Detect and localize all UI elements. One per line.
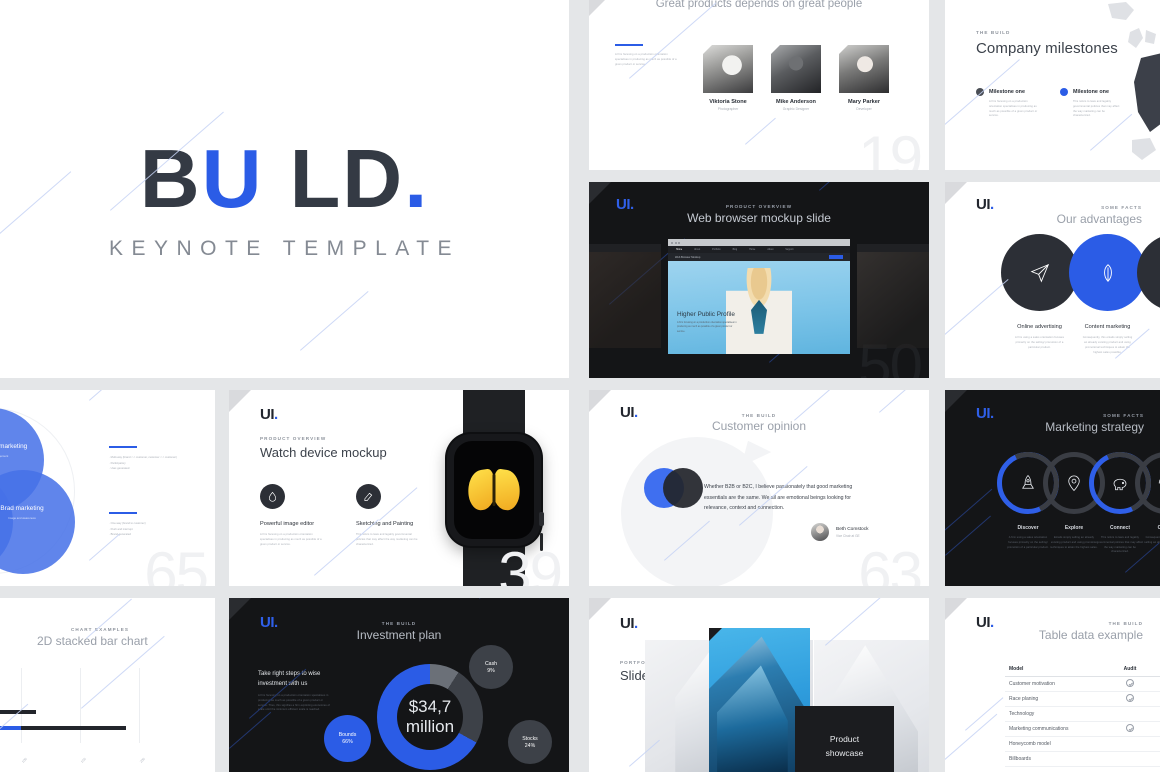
cover-logo: BUILD. KEYNOTE TEMPLATE bbox=[0, 140, 569, 261]
piggy-bank-icon bbox=[1111, 474, 1129, 492]
slide-eyebrow: THE BUILD bbox=[976, 30, 1010, 35]
advantage-circle bbox=[1069, 234, 1146, 311]
logo-letter-d: D bbox=[342, 132, 404, 225]
corner-fold-icon bbox=[945, 390, 967, 412]
ui-logo: UI. bbox=[620, 615, 638, 632]
table-row[interactable]: Race planing bbox=[1005, 692, 1160, 707]
slide-eyebrow: SOME FACTS bbox=[1101, 205, 1142, 210]
hero-copy: Higher Public Profile A firm focusing on… bbox=[677, 311, 737, 334]
team-title: Great products depends on great people bbox=[644, 0, 874, 13]
legend-bubble-stocks[interactable]: Stocks 24% bbox=[508, 720, 552, 764]
cell-model: Technology bbox=[1005, 711, 1105, 717]
x-tick-label: 150 bbox=[80, 757, 87, 764]
bubble-value: 24% bbox=[525, 743, 535, 749]
browser-hero: Higher Public Profile A firm focusing on… bbox=[668, 261, 850, 354]
milestone-label: Milestone one bbox=[989, 89, 1025, 95]
pin-icon bbox=[1065, 474, 1083, 492]
slide-title: 2D stacked bar chart bbox=[37, 634, 148, 648]
bubble-label: Stocks bbox=[522, 736, 538, 742]
corner-fold-icon bbox=[945, 598, 967, 620]
cell-model: Customer motivation bbox=[1005, 681, 1105, 687]
nav-item[interactable]: Blog bbox=[733, 249, 738, 251]
table-header-row: Model Audit Planing bbox=[1005, 662, 1160, 677]
accent-rule bbox=[109, 512, 137, 514]
team-people-list: Viktoria Stone Photographer Mike Anderso… bbox=[703, 45, 889, 111]
slide-center-aligned-gallery[interactable]: UI. PORTFOLIO Slide with center aligned … bbox=[589, 598, 929, 772]
ui-logo: UI. bbox=[260, 406, 278, 423]
cell-model: Race planing bbox=[1005, 696, 1105, 702]
legend-bubble-cash[interactable]: Cash 9% bbox=[469, 645, 513, 689]
ui-logo: UI. bbox=[620, 404, 638, 421]
nav-item[interactable]: Support bbox=[785, 249, 793, 251]
logo-dot: . bbox=[404, 132, 429, 225]
advantage-circle bbox=[1137, 234, 1160, 311]
watch-body bbox=[447, 434, 541, 546]
ui-logo: UI. bbox=[976, 405, 994, 422]
check-icon bbox=[1126, 694, 1134, 702]
feature-icon-circle bbox=[356, 484, 381, 509]
feature-text: A firm focusing on a production orientat… bbox=[260, 533, 322, 547]
author-role: Vice Chair at GE bbox=[836, 534, 869, 538]
corner-fold-icon bbox=[229, 598, 251, 620]
team-side-block: A firm focusing on a production orientat… bbox=[615, 44, 679, 67]
venn-label-title: Social media marketing bbox=[0, 442, 33, 451]
list-item[interactable]: Powerful image editor A firm focusing on… bbox=[260, 484, 322, 548]
list-item[interactable]: Mike Anderson Graphic Designer bbox=[771, 45, 821, 111]
logo-letter-b: B bbox=[140, 132, 202, 225]
browser-nav[interactable]: Home About Portfolio Blog Home About Sup… bbox=[668, 246, 850, 253]
donut-center-line2: million bbox=[406, 717, 454, 737]
logo-letter-l: L bbox=[290, 132, 343, 225]
data-table[interactable]: Model Audit Planing Customer motivation … bbox=[1005, 662, 1160, 767]
person-name: Viktoria Stone bbox=[703, 99, 753, 105]
advantage-circle bbox=[1001, 234, 1078, 311]
list-item[interactable]: Content marketing Consequently, this ent… bbox=[1069, 234, 1146, 356]
table-row[interactable]: Technology bbox=[1005, 707, 1160, 722]
watch-crown bbox=[539, 512, 544, 526]
table-row[interactable]: Marketing communications bbox=[1005, 722, 1160, 737]
corner-fold-icon bbox=[589, 598, 611, 620]
list-item[interactable] bbox=[1137, 234, 1160, 356]
avatar bbox=[771, 45, 821, 93]
browser-tab-label: Web Browser Mockup bbox=[675, 256, 700, 259]
ui-logo: UI. bbox=[260, 614, 278, 631]
check-icon bbox=[1126, 724, 1134, 732]
accent-rule bbox=[615, 44, 643, 46]
corner-fold-icon bbox=[945, 182, 967, 204]
bubble-label: Bounds bbox=[339, 732, 357, 738]
nav-item[interactable]: About bbox=[694, 249, 700, 251]
cover-subtitle: KEYNOTE TEMPLATE bbox=[0, 237, 569, 261]
bar-chart-plot: 100 150 200 bbox=[0, 668, 171, 753]
legend-bubble-bounds[interactable]: Bounds 66% bbox=[324, 715, 371, 762]
nav-item[interactable]: Home bbox=[749, 249, 755, 251]
person-role: Graphic Designer bbox=[771, 107, 821, 111]
browser-cta-button[interactable] bbox=[829, 255, 843, 259]
venn-label-sub: Customer engagement bbox=[0, 454, 33, 458]
person-role: Photographer bbox=[703, 107, 753, 111]
butterfly-image bbox=[468, 468, 520, 512]
slide-eyebrow: THE BUILD bbox=[382, 621, 416, 626]
corner-fold-icon bbox=[589, 182, 611, 204]
list-item[interactable]: Mary Parker Developer bbox=[839, 45, 889, 111]
nav-item[interactable]: Home bbox=[676, 249, 682, 251]
showcase-line1: Product bbox=[826, 733, 864, 747]
slide-title: Customer opinion bbox=[712, 419, 806, 433]
hero-text: A firm focusing on a production orientat… bbox=[677, 321, 737, 334]
advantage-name: Online advertising bbox=[1001, 323, 1078, 331]
slide-eyebrow: THE BUILD bbox=[1109, 621, 1143, 626]
build-wordmark: BUILD. bbox=[140, 140, 430, 219]
paper-plane-icon bbox=[1029, 262, 1051, 284]
nav-item[interactable]: Portfolio bbox=[712, 249, 720, 251]
nav-item[interactable]: About bbox=[767, 249, 773, 251]
list-item[interactable]: Sketching and Painting This refers to la… bbox=[356, 484, 418, 548]
strategy-steps: Discover A firm using a sales orientatio… bbox=[997, 452, 1160, 555]
ui-logo: UI. bbox=[976, 196, 994, 213]
venn-label-sub: Image and awareness bbox=[0, 516, 61, 520]
slide-customer-opinion[interactable]: 63 UI. THE BUILD Customer opinion Whethe… bbox=[589, 390, 929, 586]
corner-fold-icon bbox=[589, 390, 611, 412]
slide-cover[interactable]: BUILD. KEYNOTE TEMPLATE bbox=[0, 0, 569, 378]
browser-titlebar bbox=[668, 239, 850, 246]
list-item[interactable]: Milestone one A firm focusing on a produ… bbox=[976, 88, 1039, 119]
advantage-name: Content marketing bbox=[1069, 323, 1146, 331]
feature-name: Sketching and Painting bbox=[356, 520, 418, 528]
slide-gallery-board: BUILD. KEYNOTE TEMPLATE 19 Great product… bbox=[0, 0, 1160, 772]
bubble-label: Cash bbox=[485, 661, 497, 667]
corner-fold-icon bbox=[229, 390, 251, 412]
feature-text: This refers to laws and legality governm… bbox=[356, 533, 418, 547]
investment-lead: Take right steps to wise investment with… bbox=[258, 670, 328, 689]
feature-icon-circle bbox=[260, 484, 285, 509]
slide-title: Marketing strategy bbox=[1045, 420, 1144, 434]
milestone-dot-icon bbox=[1060, 88, 1068, 96]
features-list: Powerful image editor A firm focusing on… bbox=[260, 484, 418, 548]
venn-diagram: Social media marketing Customer engageme… bbox=[0, 408, 75, 574]
slide-marketing-venn[interactable]: 65 Social media marketing Customer engag… bbox=[0, 390, 215, 586]
donut-center-line1: $34,7 bbox=[409, 697, 452, 717]
legend-bullets: · One-way (brand to customer) · Push and… bbox=[109, 521, 193, 538]
bubble-value: 9% bbox=[487, 668, 495, 674]
venn-label-title: Brad marketing bbox=[0, 504, 61, 513]
side-thumbnail-left bbox=[589, 244, 661, 348]
table-row[interactable]: Customer motivation bbox=[1005, 677, 1160, 692]
slide-title: Watch device mockup bbox=[260, 444, 387, 461]
product-showcase-card[interactable]: Product showcase bbox=[795, 706, 894, 772]
slide-table-data-example[interactable]: UI. THE BUILD Table data example Model A… bbox=[945, 598, 1160, 772]
author-name: Beth Comstock bbox=[836, 527, 869, 532]
feature-name: Powerful image editor bbox=[260, 520, 322, 528]
side-thumbnail-right bbox=[857, 244, 929, 348]
hero-heading: Higher Public Profile bbox=[677, 311, 737, 318]
cell-model: Honeycomb model bbox=[1005, 741, 1105, 747]
slide-eyebrow: CHART EXAMPLES bbox=[71, 627, 129, 632]
list-item[interactable]: Viktoria Stone Photographer bbox=[703, 45, 753, 111]
ui-logo: UI. bbox=[976, 614, 994, 631]
milestone-text: A firm focusing on a production orientat… bbox=[989, 100, 1039, 119]
quote-author: Beth Comstock Vice Chair at GE bbox=[811, 523, 869, 541]
x-tick-label: 200 bbox=[139, 757, 146, 764]
avatar bbox=[703, 45, 753, 93]
slide-eyebrow: PRODUCT OVERVIEW bbox=[726, 204, 792, 209]
slide-title: Table data example bbox=[1039, 628, 1143, 642]
slide-web-browser-mockup[interactable]: 50 UI. PRODUCT OVERVIEW Web browser mock… bbox=[589, 182, 929, 378]
column-header: Model bbox=[1005, 666, 1105, 672]
donut-center: $34,7 million bbox=[397, 684, 463, 750]
world-map-icon bbox=[1046, 0, 1160, 170]
venn-legend: · Multi-way (brand <-> customer, custome… bbox=[109, 446, 193, 538]
person-name: Mike Anderson bbox=[771, 99, 821, 105]
slide-number: 39 bbox=[498, 544, 561, 586]
slide-marketing-strategy[interactable]: UI. SOME FACTS Marketing strategy Discov… bbox=[945, 390, 1160, 586]
corner-fold-icon bbox=[589, 0, 605, 16]
step-name: Collect bbox=[1135, 525, 1160, 531]
slide-investment-plan[interactable]: UI. THE BUILD Investment plan Take right… bbox=[229, 598, 569, 772]
list-item[interactable]: Milestone one This refers to laws and le… bbox=[1060, 88, 1123, 119]
slide-number: 19 bbox=[858, 128, 921, 170]
milestones-list: Milestone one A firm focusing on a produ… bbox=[976, 88, 1123, 119]
accent-rule bbox=[109, 446, 137, 448]
slide-title: Our advantages bbox=[1057, 212, 1142, 226]
cell-model: Billboards bbox=[1005, 756, 1105, 762]
milestone-dot-icon bbox=[976, 88, 984, 96]
slide-eyebrow: PRODUCT OVERVIEW bbox=[260, 436, 326, 441]
quote-text: Whether B2B or B2C, I believe passionate… bbox=[704, 482, 864, 514]
slide-number: 63 bbox=[858, 544, 921, 586]
avatar bbox=[839, 45, 889, 93]
slide-company-milestones[interactable]: THE BUILD Company milestones Milestone o… bbox=[945, 0, 1160, 170]
slide-team[interactable]: 19 Great products depends on great peopl… bbox=[589, 0, 929, 170]
advantage-text: A firm using a sales orientation focuses… bbox=[1001, 336, 1078, 350]
slide-our-advantages[interactable]: UI. SOME FACTS Our advantages Online adv… bbox=[945, 182, 1160, 378]
milestone-label: Milestone one bbox=[1073, 89, 1109, 95]
leaf-icon bbox=[1097, 262, 1119, 284]
advantages-list: Online advertising A firm using a sales … bbox=[1001, 234, 1160, 356]
column-header: Audit bbox=[1105, 666, 1155, 672]
person-role: Developer bbox=[839, 107, 889, 111]
rocket-icon bbox=[1019, 474, 1037, 492]
person-name: Mary Parker bbox=[839, 99, 889, 105]
table-row[interactable]: Billboards bbox=[1005, 752, 1160, 767]
slide-eyebrow: SOME FACTS bbox=[1103, 413, 1144, 418]
corner-fold-icon bbox=[709, 628, 722, 641]
check-icon bbox=[1126, 679, 1134, 687]
team-side-text: A firm focusing on a production orientat… bbox=[615, 53, 679, 67]
column-header: Planing bbox=[1155, 666, 1160, 672]
slide-title: Investment plan bbox=[357, 628, 442, 642]
donut-chart: $34,7 million bbox=[377, 664, 483, 770]
list-item[interactable]: Online advertising A firm using a sales … bbox=[1001, 234, 1078, 356]
investment-body: A firm focusing on a production orientat… bbox=[258, 694, 330, 713]
slide-title: Web browser mockup slide bbox=[687, 211, 831, 225]
bubble-value: 66% bbox=[342, 739, 352, 745]
advantage-text: Consequently, this entails simply sellin… bbox=[1069, 336, 1146, 355]
venn-dots-icon bbox=[644, 468, 704, 508]
step-text: Consequently, this entails simply sellin… bbox=[1135, 536, 1160, 546]
slide-watch-mockup[interactable]: 39 UI. PRODUCT OVERVIEW Watch device moc… bbox=[229, 390, 569, 586]
legend-block: · One-way (brand to customer) · Push and… bbox=[109, 512, 193, 538]
browser-subbar: Web Browser Mockup bbox=[668, 253, 850, 261]
slide-title: Company milestones bbox=[976, 39, 1118, 59]
milestone-text: This refers to laws and legality governm… bbox=[1073, 100, 1123, 119]
legend-bullets: · Multi-way (brand <-> customer, custome… bbox=[109, 455, 193, 472]
droplet-icon bbox=[267, 491, 278, 502]
slide-2d-stacked-bar-chart[interactable]: CHART EXAMPLES 2D stacked bar chart bbox=[0, 598, 215, 772]
legend-block: · Multi-way (brand <-> customer, custome… bbox=[109, 446, 193, 472]
slide-number: 65 bbox=[144, 544, 207, 586]
venn-label: Social media marketing Customer engageme… bbox=[0, 442, 33, 458]
showcase-line2: showcase bbox=[826, 747, 864, 761]
table-row[interactable]: Honeycomb model bbox=[1005, 737, 1160, 752]
cell-model: Marketing communications bbox=[1005, 726, 1105, 732]
logo-letter-u: U bbox=[202, 132, 264, 225]
browser-window[interactable]: Home About Portfolio Blog Home About Sup… bbox=[668, 239, 850, 354]
venn-label: Brad marketing Image and awareness bbox=[0, 504, 61, 520]
watch-screen bbox=[454, 441, 534, 539]
x-tick-label: 100 bbox=[21, 757, 28, 764]
slide-eyebrow: THE BUILD bbox=[742, 413, 776, 418]
ui-logo: UI. bbox=[616, 196, 634, 213]
avatar bbox=[811, 523, 829, 541]
paint-icon bbox=[363, 491, 374, 502]
